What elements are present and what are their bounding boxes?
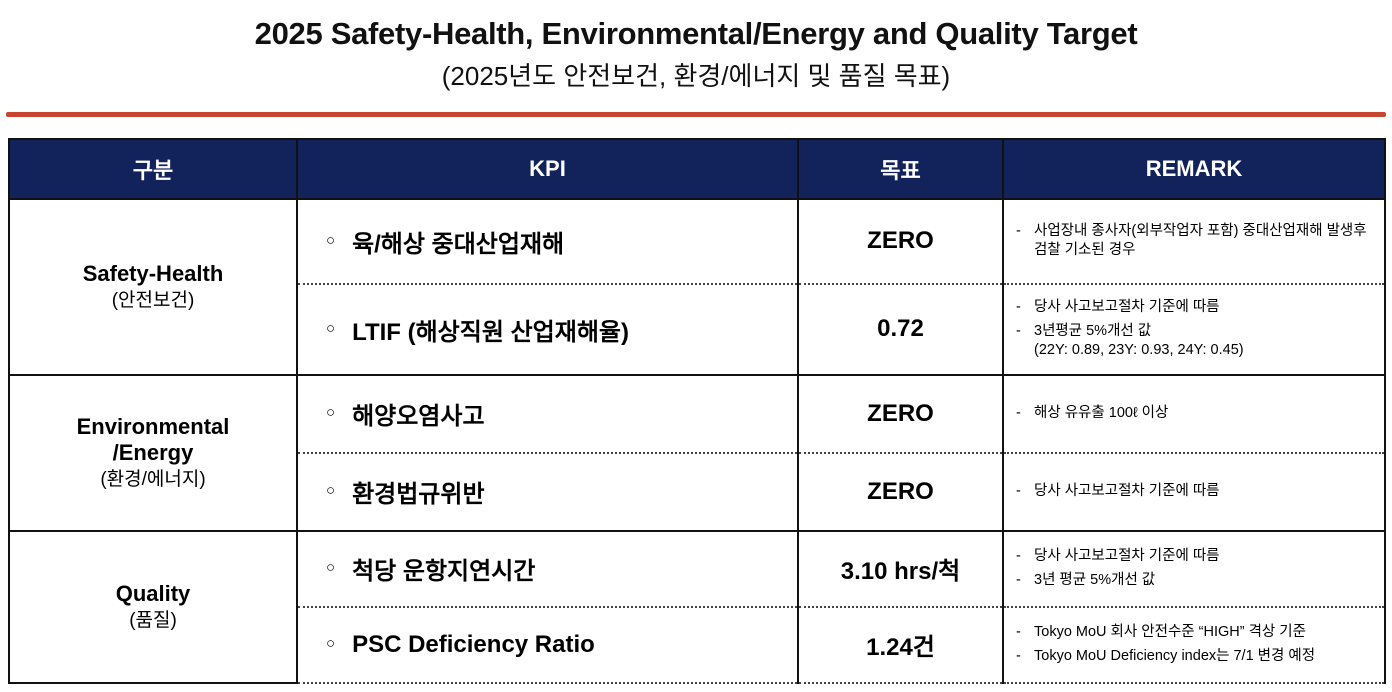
circle-bullet-icon: ○ (326, 636, 335, 651)
kpi-label: PSC Deficiency Ratio (352, 631, 595, 659)
category-label-ko: (안전보건) (16, 289, 290, 313)
page-title-block: 2025 Safety-Health, Environmental/Energy… (0, 0, 1392, 92)
category-label-ko: (환경/에너지) (16, 468, 290, 492)
page-subtitle: (2025년도 안전보건, 환경/에너지 및 품질 목표) (0, 61, 1392, 92)
remark-text: 해상 유유출 100ℓ 이상 (1034, 404, 1376, 424)
kpi-label: 해양오염사고 (352, 396, 484, 431)
kpi-cell: ○ PSC Deficiency Ratio (297, 607, 798, 683)
column-header-target: 목표 (798, 139, 1003, 199)
category-cell-environmental-energy: Environmental /Energy (환경/에너지) (9, 375, 297, 531)
remark-item: - 당사 사고보고절차 기준에 따름 (1016, 547, 1376, 567)
target-cell: 0.72 (798, 284, 1003, 375)
remark-item: - 사업장내 종사자(외부작업자 포함) 중대산업재해 발생후 검찰 기소된 경… (1016, 222, 1376, 261)
remark-cell: - 사업장내 종사자(외부작업자 포함) 중대산업재해 발생후 검찰 기소된 경… (1003, 199, 1385, 284)
remark-text: 당사 사고보고절차 기준에 따름 (1034, 298, 1376, 318)
kpi-cell: ○ 환경법규위반 (297, 453, 798, 531)
remark-cell: - 당사 사고보고절차 기준에 따름 - 3년평균 5%개선 값 (22Y: 0… (1003, 284, 1385, 375)
target-cell: 3.10 hrs/척 (798, 531, 1003, 607)
circle-bullet-icon: ○ (326, 560, 335, 575)
kpi-label: 육/해상 중대산업재해 (352, 224, 564, 259)
target-cell: ZERO (798, 375, 1003, 453)
column-header-remark: REMARK (1003, 139, 1385, 199)
column-header-category: 구분 (9, 139, 297, 199)
category-label-en-line1: Environmental (16, 414, 290, 440)
dash-bullet-icon: - (1016, 547, 1023, 567)
category-label-ko: (품질) (16, 609, 290, 633)
kpi-label: 척당 운항지연시간 (352, 551, 535, 586)
dash-bullet-icon: - (1016, 623, 1023, 643)
dash-bullet-icon: - (1016, 322, 1023, 342)
remark-text: 당사 사고보고절차 기준에 따름 (1034, 482, 1376, 502)
dash-bullet-icon: - (1016, 571, 1023, 591)
category-label-en: Quality (16, 581, 290, 607)
category-label-en-line2: /Energy (16, 440, 290, 466)
table-row: Safety-Health (안전보건) ○ 육/해상 중대산업재해 ZERO … (9, 199, 1385, 284)
target-cell: ZERO (798, 453, 1003, 531)
remark-cell: - 당사 사고보고절차 기준에 따름 (1003, 453, 1385, 531)
remark-text: 사업장내 종사자(외부작업자 포함) 중대산업재해 발생후 검찰 기소된 경우 (1034, 222, 1376, 261)
kpi-cell: ○ 척당 운항지연시간 (297, 531, 798, 607)
category-cell-safety-health: Safety-Health (안전보건) (9, 199, 297, 375)
table-header-row: 구분 KPI 목표 REMARK (9, 139, 1385, 199)
accent-divider-rule (6, 112, 1386, 117)
remark-cell: - 당사 사고보고절차 기준에 따름 - 3년 평균 5%개선 값 (1003, 531, 1385, 607)
remark-item: - 해상 유유출 100ℓ 이상 (1016, 404, 1376, 424)
kpi-label: 환경법규위반 (352, 474, 484, 509)
remark-cell: - Tokyo MoU 회사 안전수준 “HIGH” 격상 기준 - Tokyo… (1003, 607, 1385, 683)
remark-text: Tokyo MoU 회사 안전수준 “HIGH” 격상 기준 (1034, 623, 1376, 643)
remark-text: 3년 평균 5%개선 값 (1034, 571, 1376, 591)
page-title: 2025 Safety-Health, Environmental/Energy… (0, 16, 1392, 52)
dash-bullet-icon: - (1016, 298, 1023, 318)
kpi-table-wrapper: 구분 KPI 목표 REMARK Safety-Health (안전보건) ○ … (8, 138, 1384, 684)
circle-bullet-icon: ○ (326, 405, 335, 420)
table-row: Quality (품질) ○ 척당 운항지연시간 3.10 hrs/척 - 당사… (9, 531, 1385, 607)
kpi-cell: ○ LTIF (해상직원 산업재해율) (297, 284, 798, 375)
remark-item: - 3년 평균 5%개선 값 (1016, 571, 1376, 591)
kpi-cell: ○ 해양오염사고 (297, 375, 798, 453)
target-cell: 1.24건 (798, 607, 1003, 683)
circle-bullet-icon: ○ (326, 321, 335, 336)
category-label-en: Safety-Health (16, 261, 290, 287)
remark-item: - 당사 사고보고절차 기준에 따름 (1016, 298, 1376, 318)
remark-subnote: (22Y: 0.89, 23Y: 0.93, 24Y: 0.45) (1034, 341, 1376, 361)
dash-bullet-icon: - (1016, 222, 1023, 242)
table-row: Environmental /Energy (환경/에너지) ○ 해양오염사고 … (9, 375, 1385, 453)
remark-item: - Tokyo MoU Deficiency index는 7/1 변경 예정 (1016, 647, 1376, 667)
remark-text-group: 3년평균 5%개선 값 (22Y: 0.89, 23Y: 0.93, 24Y: … (1034, 322, 1376, 361)
remark-text: 3년평균 5%개선 값 (1034, 323, 1151, 339)
category-cell-quality: Quality (품질) (9, 531, 297, 683)
dash-bullet-icon: - (1016, 482, 1023, 502)
kpi-label: LTIF (해상직원 산업재해율) (352, 312, 629, 347)
table-header: 구분 KPI 목표 REMARK (9, 139, 1385, 199)
kpi-cell: ○ 육/해상 중대산업재해 (297, 199, 798, 284)
remark-item: - Tokyo MoU 회사 안전수준 “HIGH” 격상 기준 (1016, 623, 1376, 643)
column-header-kpi: KPI (297, 139, 798, 199)
remark-item: - 당사 사고보고절차 기준에 따름 (1016, 482, 1376, 502)
remark-cell: - 해상 유유출 100ℓ 이상 (1003, 375, 1385, 453)
target-cell: ZERO (798, 199, 1003, 284)
dash-bullet-icon: - (1016, 404, 1023, 424)
kpi-target-table: 구분 KPI 목표 REMARK Safety-Health (안전보건) ○ … (8, 138, 1386, 684)
remark-item: - 3년평균 5%개선 값 (22Y: 0.89, 23Y: 0.93, 24Y… (1016, 322, 1376, 361)
remark-text: 당사 사고보고절차 기준에 따름 (1034, 547, 1376, 567)
circle-bullet-icon: ○ (326, 483, 335, 498)
remark-text: Tokyo MoU Deficiency index는 7/1 변경 예정 (1034, 647, 1376, 667)
circle-bullet-icon: ○ (326, 233, 335, 248)
dash-bullet-icon: - (1016, 647, 1023, 667)
table-body: Safety-Health (안전보건) ○ 육/해상 중대산업재해 ZERO … (9, 199, 1385, 683)
